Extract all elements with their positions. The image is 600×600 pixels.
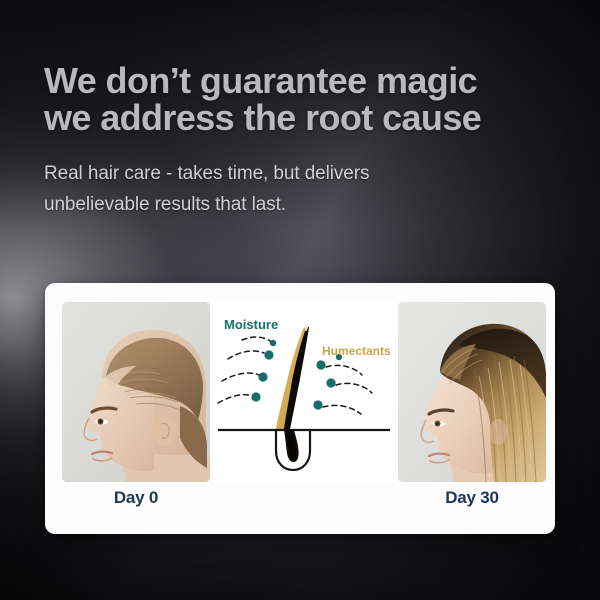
before-label: Day 0 (62, 482, 210, 514)
promo-image: We don’t guarantee magic we address the … (0, 0, 600, 600)
follicle-diagram: Moisture Humectants (210, 302, 398, 482)
humectants-label: Humectants (322, 344, 391, 358)
before-photo-illustration (62, 302, 210, 482)
moisture-trails-left (218, 337, 270, 403)
moisture-trails-right (323, 365, 372, 414)
copy-block: We don’t guarantee magic we address the … (44, 62, 574, 220)
card-content-row: Day 0 (62, 302, 538, 534)
before-after-card: Day 0 (45, 283, 555, 534)
page-title: We don’t guarantee magic we address the … (44, 62, 574, 136)
page-subtitle: Real hair care - takes time, but deliver… (44, 158, 574, 220)
after-photo (398, 302, 546, 482)
after-column: Day 30 (398, 302, 546, 514)
before-column: Day 0 (62, 302, 210, 514)
follicle-diagram-illustration: Moisture Humectants (210, 313, 398, 471)
after-photo-illustration (398, 302, 546, 482)
before-photo (62, 302, 210, 482)
moisture-label: Moisture (224, 317, 278, 332)
after-label: Day 30 (398, 482, 546, 514)
